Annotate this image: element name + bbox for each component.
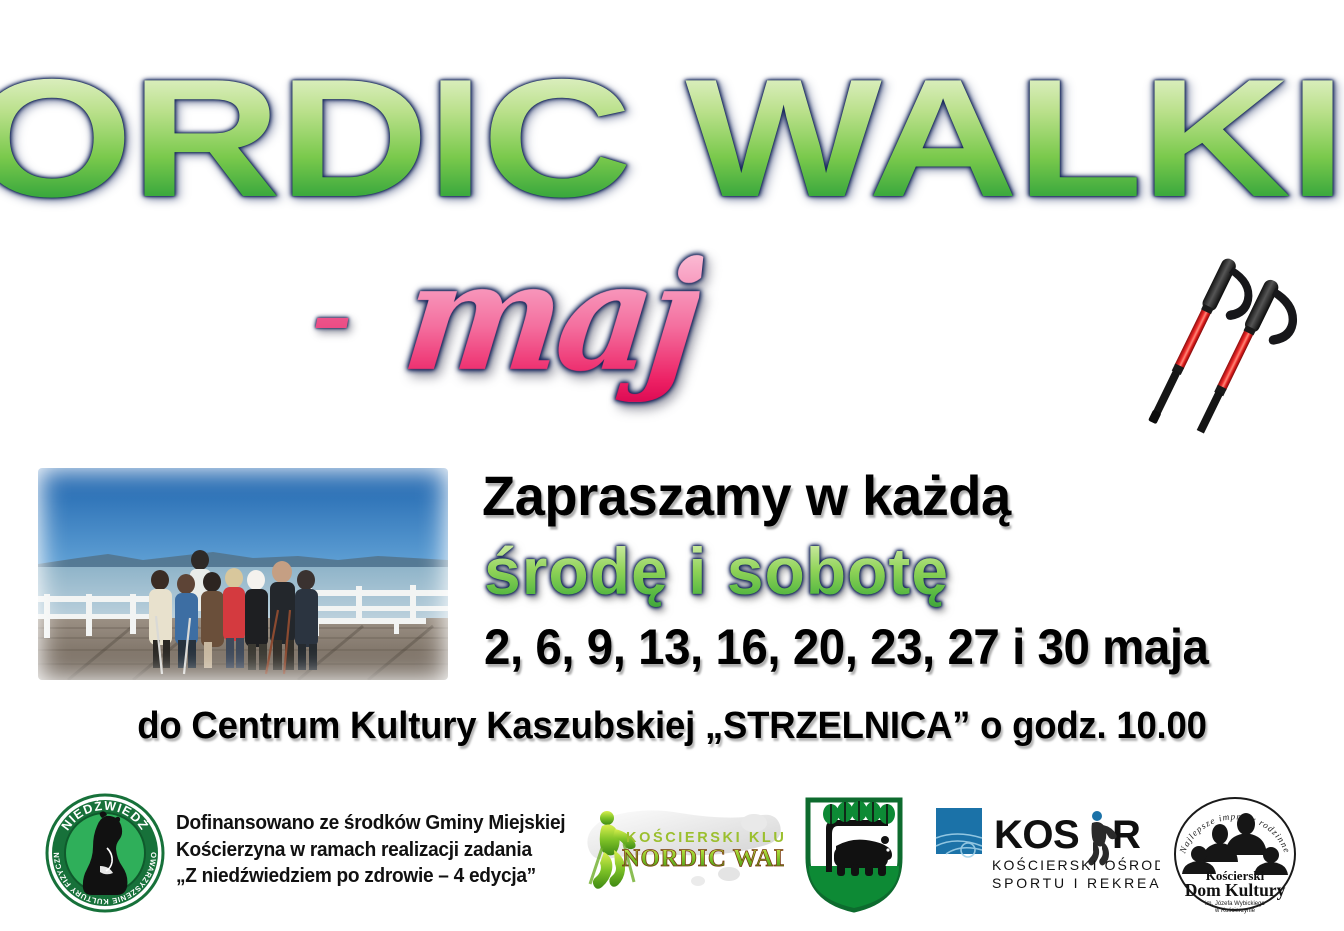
logo-nordic-walking-club: KOŚCIERSKI KLUB NORDIC WALKING: [566, 804, 784, 890]
nwclub-line-2: NORDIC WALKING: [622, 845, 784, 872]
kdk-line-4: w Kościerzynie: [1214, 908, 1256, 914]
poster-title: NORDIC WALKING: [0, 58, 1344, 218]
invite-line-2: środę i sobotę: [484, 532, 949, 610]
poster-title-text: NORDIC WALKING: [0, 58, 1344, 218]
month-name: maj: [396, 232, 706, 402]
kosir-acronym: KOS: [994, 813, 1079, 857]
invite-line-1: Zapraszamy w każdą: [482, 464, 1083, 528]
funding-line-2: Kościerzyna w ramach realizacji zadania: [176, 837, 535, 864]
nordic-walking-poles-image: [1046, 228, 1336, 443]
logo-kosir: KOS R KOŚCIERSKI OŚRODEK SPORTU I REKREA…: [934, 804, 1160, 894]
kdk-line-2: Dom Kultury: [1185, 880, 1286, 900]
funding-line-3: „Z niedźwiedziem po zdrowie – 4 edycja”: [176, 863, 535, 890]
group-photo: [38, 468, 448, 680]
month-subtitle: -maj: [0, 232, 1010, 412]
funding-text-block: Dofinansowano ze środków Gminy Miejskiej…: [176, 810, 535, 890]
footer-logos-row: NIEDŹWIEDŹ STOWARZYSZENIE KULTURY FIZYCZ…: [0, 782, 1344, 931]
dates-line: 2, 6, 9, 13, 16, 20, 23, 27 i 30 maja: [484, 618, 1209, 676]
funding-line-1: Dofinansowano ze środków Gminy Miejskiej: [176, 810, 535, 837]
nwclub-line-1: KOŚCIERSKI KLUB: [626, 828, 784, 846]
poster-canvas: NORDIC WALKING -maj: [0, 0, 1344, 931]
kosir-line-1: KOŚCIERSKI OŚRODEK: [992, 856, 1160, 873]
kdk-line-3: im. Józefa Wybickiego: [1205, 901, 1265, 907]
venue-line: do Centrum Kultury Kaszubskiej „STRZELNI…: [27, 703, 1317, 749]
kosir-line-2: SPORTU I REKREACJI: [992, 875, 1160, 891]
logo-dom-kultury: Najlepsze imprezy rodzinne Kościerski Do…: [1172, 792, 1298, 916]
month-dash: -: [313, 236, 353, 386]
logo-niedzwiedz: NIEDŹWIEDŹ STOWARZYSZENIE KULTURY FIZYCZ…: [44, 792, 166, 914]
logo-koscierzyna-coat-of-arms: [800, 794, 908, 914]
